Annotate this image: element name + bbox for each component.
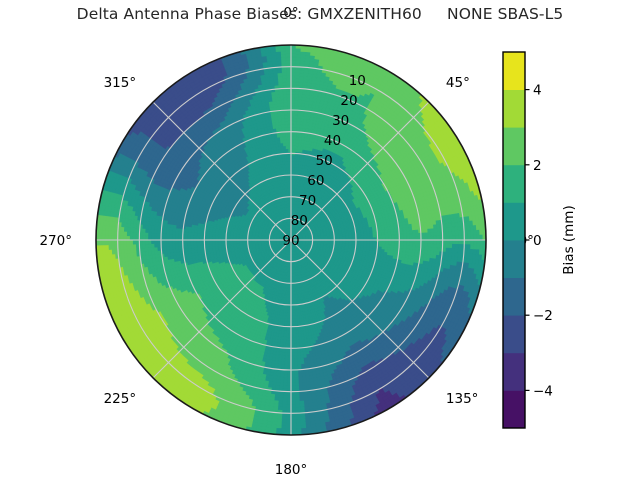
colorbar[interactable]: 420−2−4Bias (mm)	[503, 52, 577, 428]
colorbar-band-8	[503, 90, 525, 128]
radial-tick-20: 20	[340, 93, 357, 109]
figure-canvas: Delta Antenna Phase Biases: GMXZENITH60 …	[0, 0, 640, 480]
colorbar-tick-label-2: 0	[533, 233, 542, 249]
colorbar-tick-label-4: −4	[533, 383, 553, 399]
colorbar-tick-label-0: 4	[533, 83, 542, 99]
radial-tick-60: 60	[307, 173, 324, 189]
radial-tick-80: 80	[291, 213, 308, 229]
page-title: Delta Antenna Phase Biases: GMXZENITH60 …	[0, 5, 640, 23]
colorbar-band-9	[503, 52, 525, 90]
radial-tick-10: 10	[349, 73, 366, 89]
azimuth-tick-315: 315°	[104, 75, 137, 91]
colorbar-band-4	[503, 240, 525, 278]
colorbar-band-1	[503, 353, 525, 391]
colorbar-band-0	[503, 390, 525, 428]
polar-contour-plot: 0°45°90°135°180°225°270°315° 10203040506…	[0, 0, 640, 480]
radial-tick-70: 70	[299, 193, 316, 209]
colorbar-band-6	[503, 165, 525, 203]
radial-tick-30: 30	[332, 113, 349, 129]
azimuth-tick-225: 225°	[104, 391, 137, 407]
colorbar-band-7	[503, 127, 525, 165]
radial-tick-50: 50	[316, 153, 333, 169]
azimuth-tick-135: 135°	[446, 391, 479, 407]
azimuth-tick-45: 45°	[446, 75, 470, 91]
colorbar-band-2	[503, 315, 525, 353]
radial-tick-90: 90	[282, 233, 299, 249]
radial-tick-40: 40	[324, 133, 341, 149]
azimuth-tick-270: 270°	[39, 233, 72, 249]
colorbar-band-3	[503, 278, 525, 316]
azimuth-tick-180: 180°	[275, 462, 308, 478]
colorbar-tick-label-1: 2	[533, 158, 542, 174]
colorbar-tick-label-3: −2	[533, 308, 553, 324]
colorbar-band-5	[503, 202, 525, 240]
colorbar-axis-label: Bias (mm)	[561, 205, 577, 274]
